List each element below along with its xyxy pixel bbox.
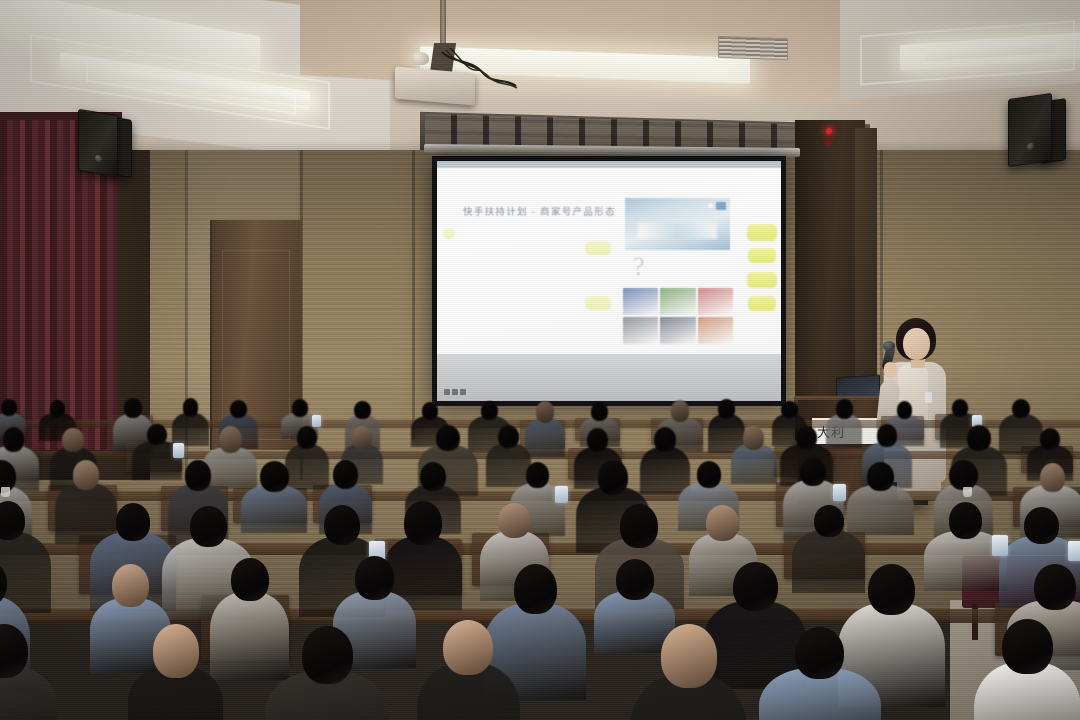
- slide-tag-middle-2: [585, 296, 611, 310]
- audience-head: [620, 504, 658, 548]
- slide-thumbnail: [698, 288, 733, 315]
- audience-phone-screen: [1068, 541, 1080, 562]
- audience-head: [1, 399, 17, 416]
- audience-head: [897, 401, 913, 419]
- audience-head: [536, 401, 554, 423]
- audience-member: [759, 627, 881, 720]
- slide-thumbnail: [698, 317, 733, 344]
- slide-thumbnail: [623, 288, 658, 315]
- audience-head: [836, 399, 853, 419]
- audience-head: [147, 424, 167, 445]
- audience-head: [292, 399, 308, 416]
- slide-hero-image: [625, 198, 730, 250]
- ceiling-dome-light: [411, 52, 429, 65]
- slide-tag-right-2: [748, 248, 776, 263]
- audience-head: [498, 503, 531, 539]
- audience-cup: [963, 487, 972, 497]
- audience-head: [1040, 463, 1065, 492]
- audience-head: [183, 398, 199, 416]
- audience-head: [1002, 619, 1052, 675]
- conference-room-photo: 快手扶持计划 - 商家号产品形态 ? 大利: [0, 0, 1080, 720]
- audience-head: [671, 400, 690, 422]
- audience-cup: [1, 487, 10, 497]
- slide-question-mark: ?: [633, 252, 645, 282]
- audience-member: [265, 626, 389, 720]
- audience-head: [1012, 399, 1030, 419]
- audience-head: [436, 425, 460, 451]
- microphone-head-icon: [883, 341, 895, 351]
- audience-head: [354, 401, 371, 419]
- audience-head: [190, 506, 227, 547]
- audience-head: [116, 503, 151, 540]
- slide-thumbnail: [660, 288, 695, 315]
- audience-head: [867, 462, 894, 491]
- speaker-hand: [884, 362, 897, 378]
- presentation-slide: 快手扶持计划 - 商家号产品形态 ?: [437, 168, 781, 354]
- audience-head: [814, 505, 844, 537]
- audience-head: [733, 562, 778, 611]
- audience-head: [967, 425, 991, 451]
- audience-head: [498, 425, 519, 448]
- audience-head: [781, 401, 797, 418]
- status-led-indicator-secondary: [826, 140, 831, 145]
- audience-head: [422, 402, 439, 420]
- audience-head: [616, 559, 654, 600]
- audience-phone-screen: [555, 486, 568, 503]
- projector-mount-pole: [440, 0, 446, 48]
- audience-head: [952, 399, 968, 417]
- audience-member: [0, 624, 57, 720]
- slide-tag-left-1: [443, 228, 455, 239]
- audience-phone-screen: [173, 443, 184, 458]
- audience-head: [718, 399, 735, 418]
- audience-head: [514, 564, 558, 614]
- audience-head: [153, 624, 199, 677]
- audience-head: [743, 426, 764, 450]
- audience-head: [526, 462, 550, 488]
- audience-head: [587, 428, 608, 453]
- audience-head: [591, 402, 608, 421]
- audience-head: [481, 401, 498, 420]
- status-led-indicator: [826, 128, 832, 134]
- audience-head: [800, 458, 826, 487]
- audience-head: [949, 502, 982, 539]
- audience-seating-area: [0, 392, 1080, 720]
- audience-phone-screen: [992, 535, 1008, 556]
- audience-member: [974, 619, 1080, 720]
- audience-head: [949, 460, 978, 491]
- audience-head: [795, 627, 844, 679]
- audience-head: [185, 460, 211, 491]
- video-dot-icon: [708, 203, 713, 208]
- audience-head: [420, 462, 446, 491]
- audience-head: [868, 564, 915, 615]
- audience-head: [1040, 428, 1059, 450]
- video-badge-icon: [716, 202, 726, 210]
- audience-head: [124, 398, 142, 418]
- audience-head: [352, 426, 372, 449]
- slide-title: 快手扶持计划 - 商家号产品形态: [463, 204, 616, 218]
- slide-thumbnail: [623, 317, 658, 344]
- audience-head: [355, 556, 393, 600]
- slide-tag-right-1: [747, 224, 777, 241]
- slide-thumbnail-grid: [623, 288, 733, 344]
- audience-head: [112, 564, 149, 607]
- audience-head: [73, 460, 100, 489]
- audience-head: [62, 428, 84, 452]
- audience-head: [661, 624, 717, 687]
- speaker-face: [903, 328, 930, 360]
- audience-head: [1034, 564, 1076, 610]
- slide-tag-right-4: [748, 296, 776, 311]
- audience-head: [324, 505, 360, 545]
- slide-tag-middle-1: [585, 241, 611, 255]
- audience-head: [302, 626, 353, 684]
- projector-cables-icon: [440, 48, 518, 88]
- audience-head: [697, 461, 722, 488]
- audience-member: [128, 624, 223, 720]
- audience-head: [50, 400, 66, 417]
- audience-head: [1024, 507, 1059, 544]
- air-vent-icon: [718, 36, 788, 60]
- speaker-driver-icon: [1027, 142, 1034, 150]
- slide-tag-right-3: [747, 272, 777, 288]
- audience-member: [630, 624, 747, 720]
- audience-head: [796, 426, 817, 449]
- audience-head: [404, 501, 441, 545]
- audience-head: [706, 505, 739, 541]
- audience-head: [654, 427, 676, 452]
- wall-speaker-right: [1008, 93, 1052, 167]
- audience-head: [219, 426, 242, 453]
- audience-head: [598, 460, 627, 494]
- audience-head: [333, 460, 359, 490]
- audience-phone-screen: [833, 484, 846, 501]
- speaker-driver-icon: [95, 155, 102, 163]
- audience-head: [3, 427, 24, 452]
- audience-head: [877, 424, 897, 447]
- audience-head: [443, 620, 493, 676]
- audience-member: [417, 620, 520, 720]
- audience-head: [231, 558, 269, 601]
- audience-head: [230, 400, 247, 419]
- wall-speaker-left: [78, 109, 118, 177]
- audience-head: [297, 426, 318, 450]
- slide-thumbnail: [660, 317, 695, 344]
- audience-head: [260, 461, 289, 492]
